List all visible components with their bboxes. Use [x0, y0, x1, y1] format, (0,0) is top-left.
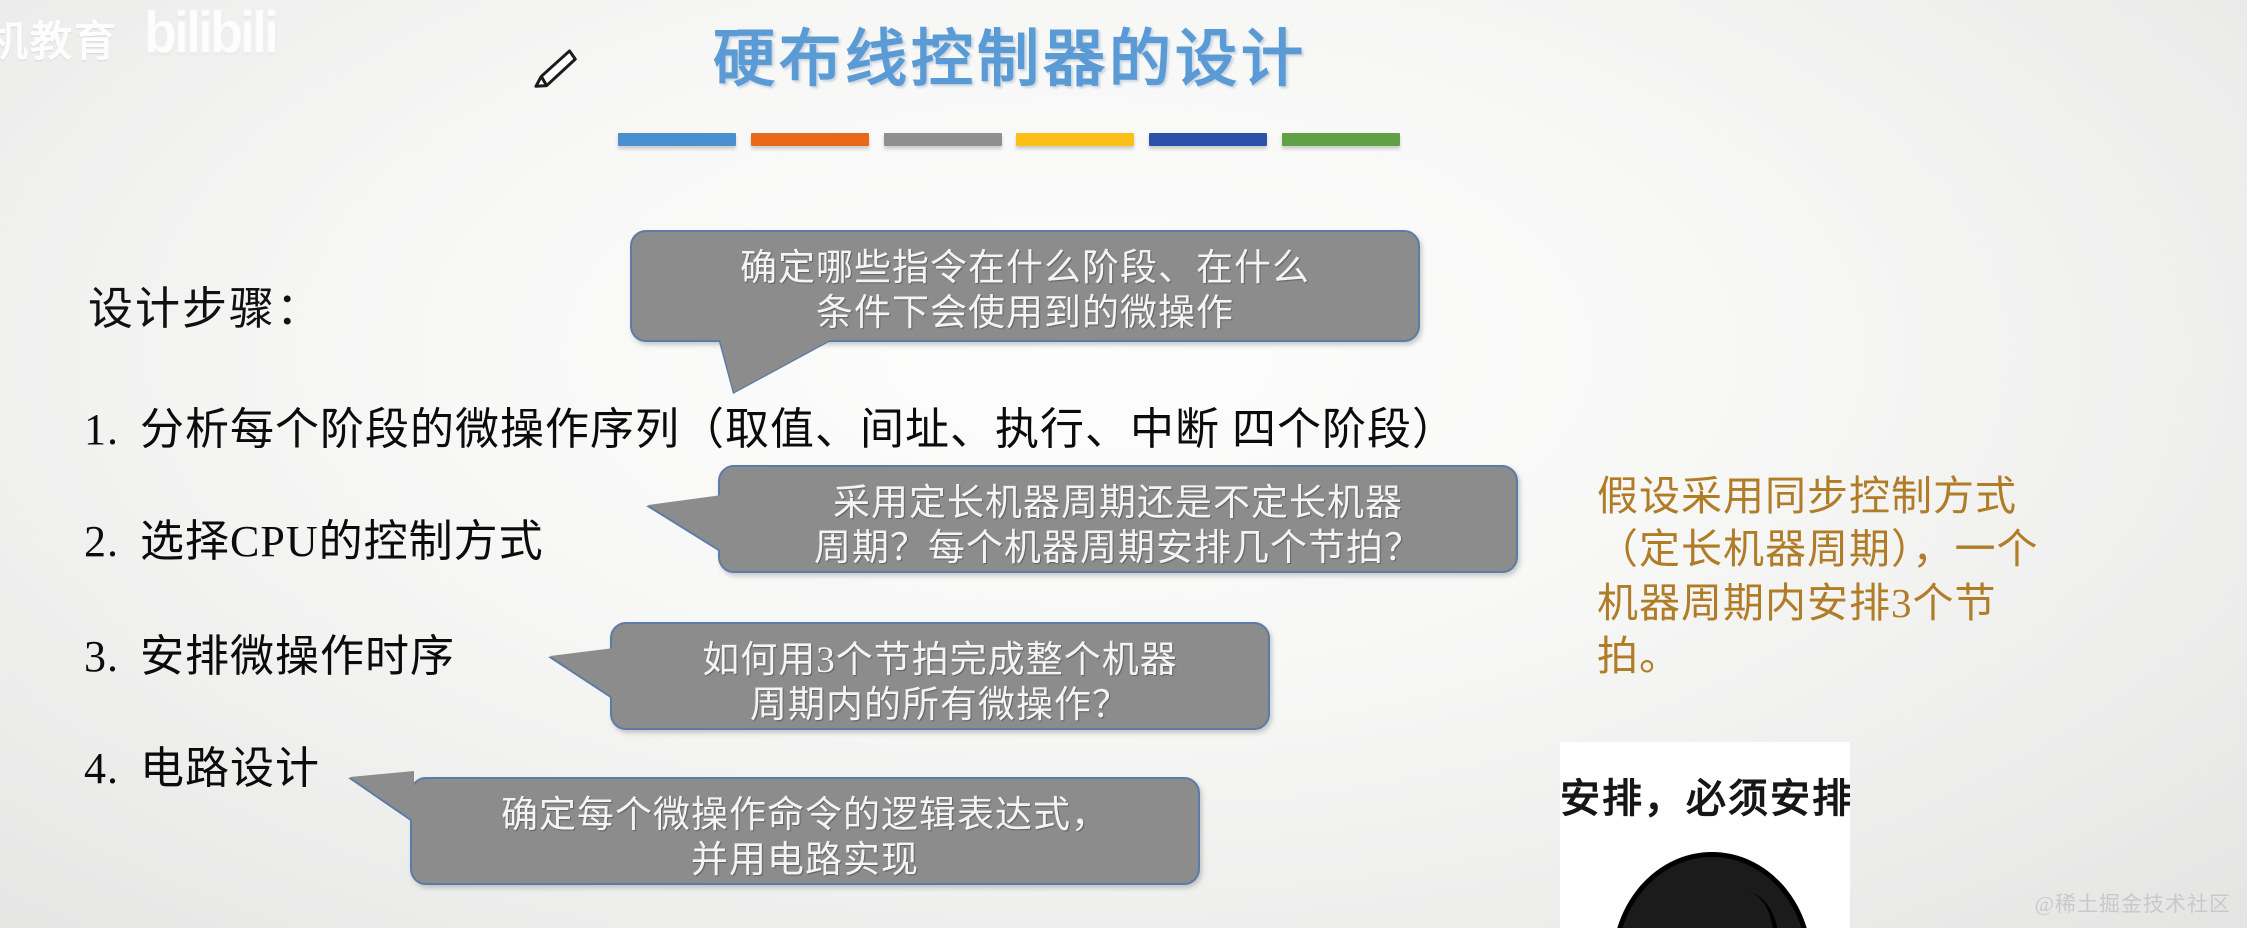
step-number-1: 1.: [84, 404, 140, 455]
callout-3-line-1: 如何用3个节拍完成整个机器: [630, 638, 1250, 683]
title-bar-1: [618, 133, 736, 146]
step-number-3: 3.: [84, 631, 140, 682]
title-bar-3: [884, 133, 1002, 146]
callout-2-line-2: 周期？每个机器周期安排几个节拍？: [738, 526, 1498, 571]
callout-4-tail: [350, 771, 414, 821]
step-text-4: 电路设计: [140, 744, 320, 793]
title-bar-4: [1016, 133, 1134, 146]
callout-1-line-1: 确定哪些指令在什么阶段、在什么: [650, 246, 1400, 291]
meme-image: 安排，必须安排: [1560, 742, 1850, 928]
step-item-4: 4.电路设计: [84, 732, 320, 796]
callout-3-line-2: 周期内的所有微操作？: [630, 683, 1250, 728]
orange-annotation-note: 假设采用同步控制方式（定长机器周期），一个机器周期内安排3个节拍。: [1597, 470, 2075, 683]
title-underline-bars: [618, 133, 1400, 151]
steps-heading: 设计步骤：: [88, 272, 323, 337]
slide-canvas: 机教育 bilibili 硬布线控制器的设计 设计步骤： 1.分析每个阶段的微操…: [0, 0, 2247, 928]
callout-4-line-1: 确定每个微操作命令的逻辑表达式，: [430, 793, 1180, 838]
title-bar-6: [1282, 133, 1400, 146]
meme-caption: 安排，必须安排: [1560, 766, 1850, 824]
page-title: 硬布线控制器的设计: [640, 8, 1380, 98]
step-text-3: 安排微操作时序: [140, 632, 455, 681]
watermark-channel-text: 机教育: [0, 8, 118, 69]
callout-1-tail: [720, 340, 830, 392]
callout-3-tail: [550, 648, 614, 698]
callout-2-line-1: 采用定长机器周期还是不定长机器: [738, 481, 1498, 526]
callout-1-line-2: 条件下会使用到的微操作: [650, 291, 1400, 336]
step-number-2: 2.: [84, 516, 140, 567]
title-bar-2: [751, 133, 869, 146]
watermark-bottom-right: @稀土掘金技术社区: [2035, 888, 2231, 918]
callout-balloon-1: 确定哪些指令在什么阶段、在什么 条件下会使用到的微操作: [630, 230, 1420, 342]
callout-2-tail: [648, 495, 722, 551]
meme-head-shape: [1612, 852, 1812, 928]
step-item-3: 3.安排微操作时序: [84, 620, 455, 684]
callout-4-line-2: 并用电路实现: [430, 838, 1180, 883]
watermark-top-left: 机教育 bilibili: [0, 2, 346, 80]
step-number-4: 4.: [84, 743, 140, 794]
step-item-2: 2.选择CPU的控制方式: [84, 505, 544, 569]
step-item-1: 1.分析每个阶段的微操作序列（取值、间址、执行、中断 四个阶段）: [84, 393, 1457, 457]
pencil-icon: [534, 42, 580, 98]
step-text-1: 分析每个阶段的微操作序列（取值、间址、执行、中断 四个阶段）: [140, 405, 1457, 454]
callout-balloon-3: 如何用3个节拍完成整个机器 周期内的所有微操作？: [610, 622, 1270, 730]
step-text-2: 选择CPU的控制方式: [140, 517, 544, 566]
title-bar-5: [1149, 133, 1267, 146]
callout-balloon-4: 确定每个微操作命令的逻辑表达式， 并用电路实现: [410, 777, 1200, 885]
bilibili-logo-icon: bilibili: [144, 0, 276, 66]
callout-balloon-2: 采用定长机器周期还是不定长机器 周期？每个机器周期安排几个节拍？: [718, 465, 1518, 573]
